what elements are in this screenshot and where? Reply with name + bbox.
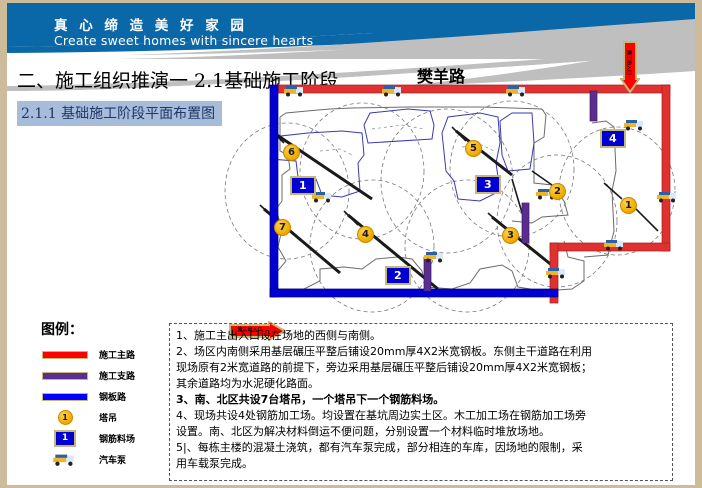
note-line: 其余道路均为水泥硬化路面。: [176, 376, 666, 392]
legend-item-tower-crane: 1 塔吊: [39, 407, 159, 428]
legend-label: 钢筋料场: [99, 432, 135, 445]
legend-label: 塔吊: [99, 411, 117, 424]
legend-item-main-road: 施工主路: [39, 344, 159, 365]
note-line: 1、施工主出入口设在场地的西侧与南侧。: [176, 328, 666, 344]
concrete-pump-truck: [380, 85, 406, 97]
note-line: 5|、每栋主楼的混凝土浇筑，都有汽车泵完成，部分相连的车库，因场地的限制，采: [176, 440, 666, 456]
notes-panel: 1、施工主出入口设在场地的西侧与南侧。 2、场区内南侧采用基层碾压平整后铺设20…: [169, 323, 673, 481]
concrete-pump-truck: [602, 239, 628, 251]
site-entrance-arrow-north: 施工出入口: [620, 41, 640, 93]
banner-title-cn: 真 心 缔 造 美 好 家 园: [54, 14, 247, 34]
note-line: 设置。南、北区为解决材料倒运不便问题，分别设置一个材料临时堆放场地。: [176, 424, 666, 440]
subsection-title: 2.1.1 基础施工阶段平面布置图: [17, 101, 222, 126]
concrete-pump-icon: [39, 453, 91, 467]
legend-label: 施工支路: [99, 369, 135, 382]
banner-title-en: Create sweet homes with sincere hearts: [54, 33, 313, 48]
legend-item-branch-road: 施工支路: [39, 365, 159, 386]
tower-crane-marker[interactable]: 7: [274, 219, 291, 236]
site-entrance-label-north: 施工出入口: [626, 44, 633, 82]
concrete-pump-truck: [282, 85, 308, 97]
legend-item-concrete-pump: 汽车泵: [39, 449, 159, 470]
note-line: 用车载泵完成。: [176, 456, 666, 472]
tower-crane-marker[interactable]: 2: [549, 183, 566, 200]
tower-crane-marker[interactable]: 6: [283, 144, 300, 161]
site-plan: 6 5 7 4 3 2 1 1 3 2 4 施工出入口 施工出入口: [212, 51, 695, 313]
tower-crane-marker[interactable]: 5: [465, 140, 482, 157]
note-line: 现场原有2米宽道路的前提下，旁边采用基层碾压平整后铺设20mm厚4X2米宽钢板；: [176, 360, 666, 376]
slide-canvas: 真 心 缔 造 美 好 家 园 Create sweet homes with …: [7, 3, 695, 485]
legend-label: 施工主路: [99, 348, 135, 361]
legend-panel: 图例： 施工主路 施工支路 钢板路 1 塔吊 1 钢筋料场 汽车泵: [39, 319, 159, 479]
note-line: 4、现场共设4处钢筋加工场。均设置在基坑周边实土区。木工加工场在钢筋加工场旁: [176, 408, 666, 424]
legend-crane-value: 1: [58, 410, 73, 425]
legend-item-rebar-yard: 1 钢筋料场: [39, 428, 159, 449]
concrete-pump-truck: [655, 191, 681, 203]
tower-crane-marker[interactable]: 4: [357, 226, 374, 243]
rebar-yard-marker[interactable]: 3: [475, 175, 501, 194]
concrete-pump-truck: [622, 119, 648, 131]
rebar-yard-icon: 1: [39, 430, 91, 447]
legend-title: 图例：: [41, 319, 159, 339]
concrete-pump-truck: [504, 85, 530, 97]
tower-crane-icon: 1: [39, 410, 91, 425]
legend-item-steel-plate-road: 钢板路: [39, 386, 159, 407]
branch-road-swatch: [39, 372, 91, 380]
legend-yard-value: 1: [54, 430, 76, 447]
rebar-yard-marker[interactable]: 2: [385, 266, 411, 285]
concrete-pump-truck: [544, 267, 570, 279]
legend-label: 汽车泵: [99, 453, 126, 466]
rebar-yard-marker[interactable]: 4: [600, 129, 626, 148]
note-line: 2、场区内南侧采用基层碾压平整后铺设20mm厚4X2米宽钢板。东侧主干道路在利用: [176, 344, 666, 360]
concrete-pump-truck: [422, 251, 448, 263]
steel-plate-road-swatch: [39, 393, 91, 401]
tower-crane-marker[interactable]: 3: [502, 227, 519, 244]
main-road-swatch: [39, 351, 91, 359]
rebar-yard-marker[interactable]: 1: [290, 176, 316, 195]
note-line: 3、南、北区共设7台塔吊，一个塔吊下一个钢筋料场。: [176, 392, 666, 408]
legend-label: 钢板路: [99, 390, 126, 403]
tower-crane-marker[interactable]: 1: [620, 197, 637, 214]
